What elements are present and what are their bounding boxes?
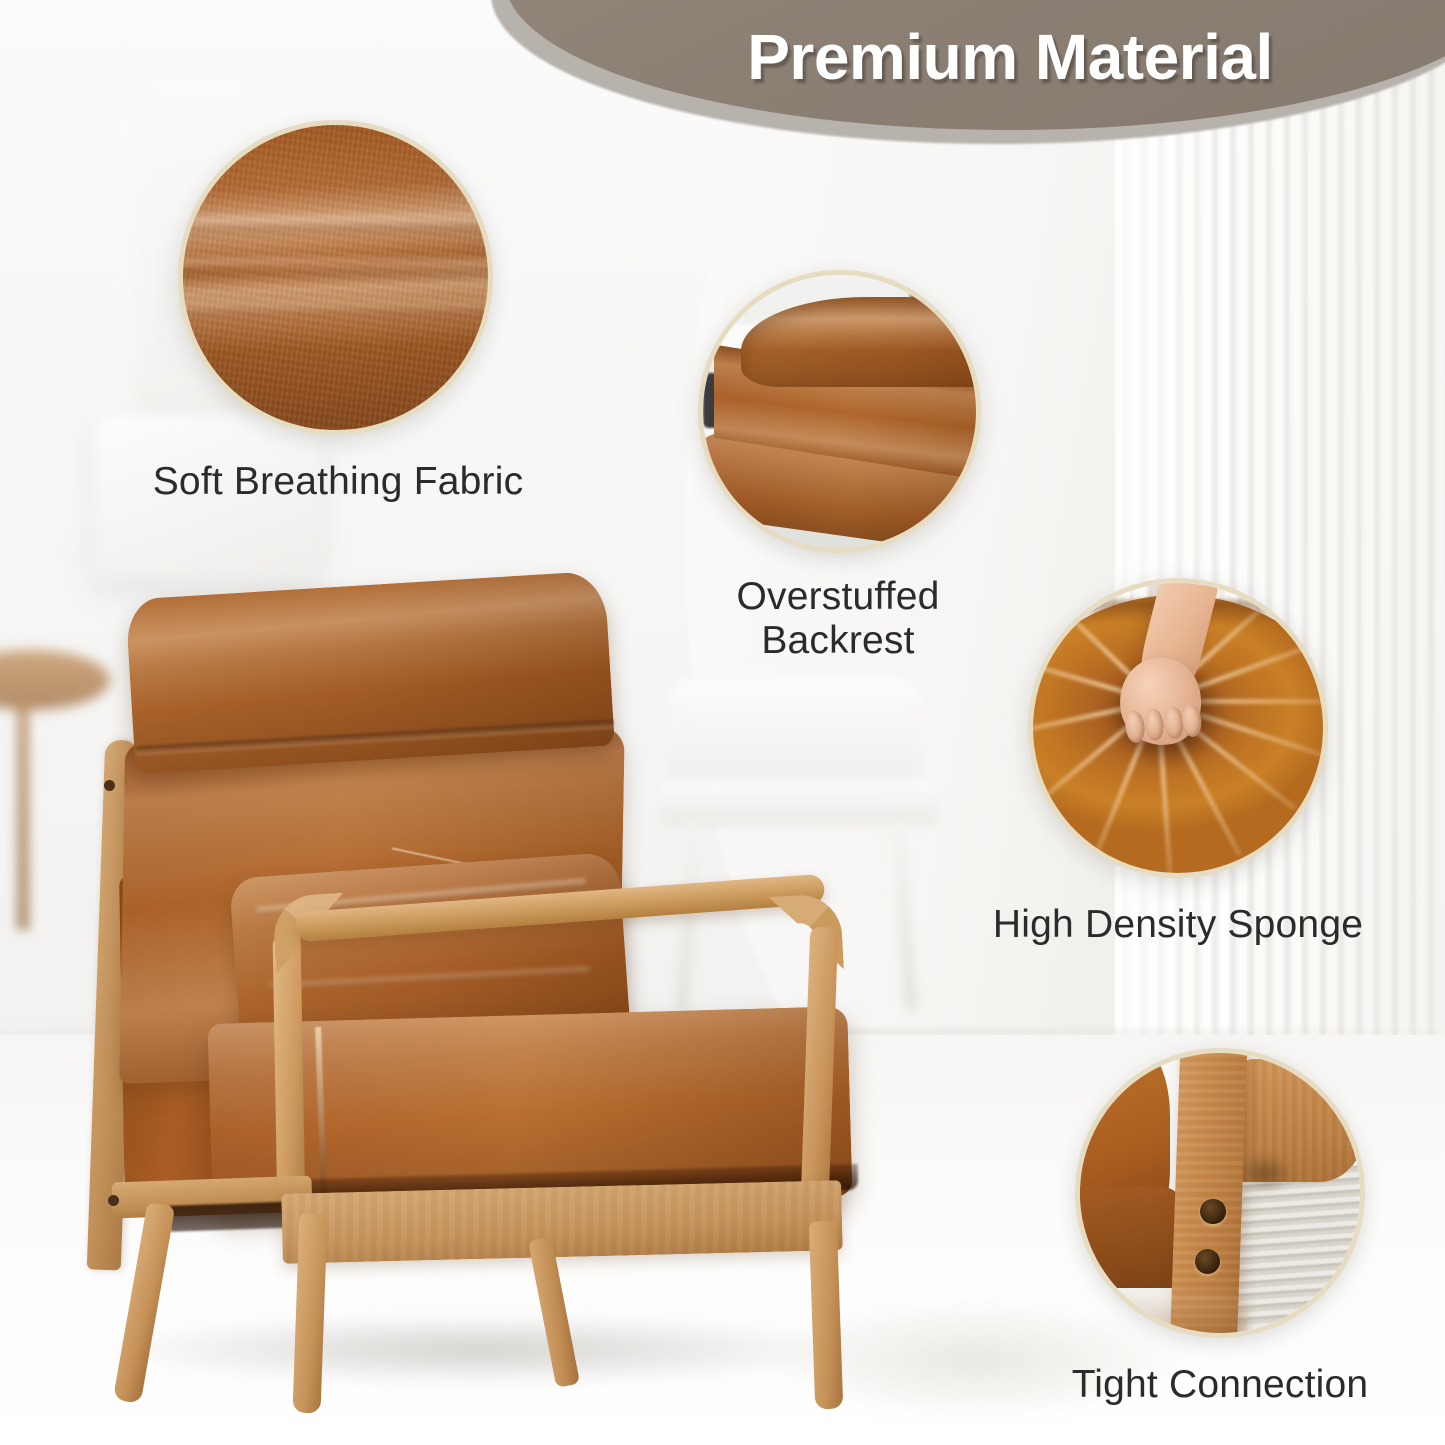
chair-seat-rail bbox=[281, 1180, 843, 1264]
callout-image-sponge bbox=[1028, 578, 1328, 878]
callout-caption-overstuffed-backrest: Overstuffed Backrest bbox=[638, 575, 1038, 662]
dowel-hole-upper bbox=[1200, 1199, 1225, 1224]
leather-highlight-band-1 bbox=[178, 217, 493, 231]
callout-image-wood-joint bbox=[1075, 1048, 1365, 1338]
backrest-photo bbox=[703, 275, 976, 548]
chair-dowel-hole-upper bbox=[104, 780, 115, 791]
callout-caption-high-density-sponge: High Density Sponge bbox=[943, 903, 1413, 947]
dowel-hole-lower bbox=[1195, 1249, 1220, 1274]
wood-joint-floor-light bbox=[1080, 1294, 1248, 1338]
product-armchair bbox=[60, 575, 900, 1405]
knuckle-2 bbox=[1144, 709, 1166, 742]
chair-floor-shadow bbox=[100, 1315, 860, 1385]
infographic-canvas: Premium Material Soft Breathing Fabric bbox=[0, 0, 1445, 1445]
leather-grain-texture bbox=[183, 125, 488, 430]
chair-dowel-hole-lower bbox=[108, 1195, 119, 1206]
background-side-table-leg bbox=[16, 700, 30, 930]
page-title: Premium Material bbox=[505, 20, 1445, 94]
header-banner: Premium Material bbox=[505, 0, 1445, 130]
leather-swatch-photo bbox=[183, 125, 488, 430]
sponge-photo bbox=[1033, 583, 1323, 873]
callout-high-density-sponge: High Density Sponge bbox=[1028, 578, 1348, 978]
callout-image-backrest bbox=[698, 270, 981, 553]
callout-image-leather-swatch bbox=[178, 120, 493, 435]
callout-soft-breathing-fabric: Soft Breathing Fabric bbox=[178, 120, 498, 520]
leather-highlight-band-3 bbox=[178, 302, 493, 316]
chair-armrest-rear-leg bbox=[273, 935, 306, 1215]
wood-joint-leather-lower bbox=[1075, 1187, 1181, 1288]
callout-caption-tight-connection: Tight Connection bbox=[985, 1363, 1445, 1407]
callout-tight-connection: Tight Connection bbox=[1075, 1048, 1395, 1443]
leather-highlight-band-2 bbox=[178, 259, 493, 277]
callout-overstuffed-backrest: Overstuffed Backrest bbox=[698, 270, 988, 670]
wood-joint-photo bbox=[1080, 1053, 1360, 1333]
callout-caption-soft-breathing-fabric: Soft Breathing Fabric bbox=[93, 460, 583, 504]
wood-joint-shadow bbox=[1237, 1154, 1293, 1193]
